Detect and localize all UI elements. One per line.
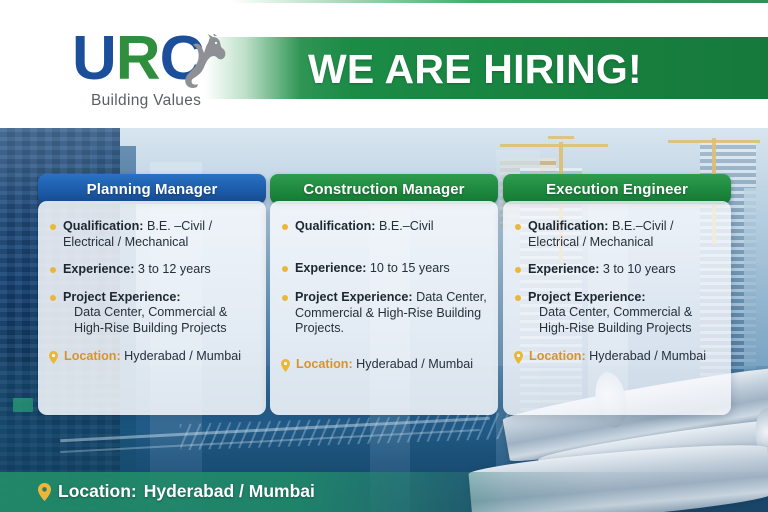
location-value: Hyderabad / Mumbai (586, 349, 706, 363)
requirement-qualification: Qualification: B.E.–Civil / Electrical /… (514, 219, 720, 250)
requirement-qualification: Qualification: B.E.–Civil (281, 219, 487, 235)
logo-tagline: Building Values (91, 92, 201, 110)
requirement-label: Qualification: (528, 219, 608, 233)
footer-location-value: Hyderabad / Mumbai (144, 481, 315, 502)
horse-icon (180, 34, 228, 90)
requirement-label: Experience: (63, 262, 134, 276)
location-value: Hyderabad / Mumbai (121, 349, 241, 363)
header-hairline (0, 0, 768, 3)
job-card-body: Qualification: B.E.–Civil Experience: 10… (270, 201, 498, 415)
requirement-experience: Experience: 3 to 10 years (514, 262, 720, 278)
job-card-body: Qualification: B.E. –Civil / Electrical … (38, 201, 266, 415)
requirement-project-experience: Project Experience: Data Center, Commerc… (49, 290, 255, 337)
job-location: Location: Hyderabad / Mumbai (514, 349, 720, 365)
requirement-label: Project Experience: (528, 290, 646, 304)
hiring-poster: WE ARE HIRING! URC Building Values (0, 0, 768, 512)
job-card-planning-manager[interactable]: Planning Manager Qualification: B.E. –Ci… (38, 174, 266, 415)
job-requirements-list: Qualification: B.E.–Civil / Electrical /… (514, 219, 720, 364)
job-card-header: Construction Manager (270, 174, 498, 204)
location-pin-icon (49, 351, 58, 364)
location-label: Location: (64, 349, 121, 363)
requirement-experience: Experience: 3 to 12 years (49, 262, 255, 278)
requirement-value: B.E.–Civil (375, 219, 433, 233)
job-location: Location: Hyderabad / Mumbai (49, 349, 255, 365)
location-label: Location: (296, 357, 353, 371)
requirement-value: 3 to 10 years (599, 262, 675, 276)
requirement-experience: Experience: 10 to 15 years (281, 261, 487, 277)
location-pin-icon (514, 351, 523, 364)
hiring-banner-text: WE ARE HIRING! (308, 42, 728, 96)
requirement-label: Project Experience: (295, 290, 413, 304)
job-card-body: Qualification: B.E.–Civil / Electrical /… (503, 201, 731, 415)
location-pin-icon (38, 483, 51, 501)
job-card-construction-manager[interactable]: Construction Manager Qualification: B.E.… (270, 174, 498, 415)
requirement-extra: Electrical / Mechanical (528, 235, 653, 249)
requirement-extra: Data Center, Commercial & High-Rise Buil… (63, 305, 255, 336)
requirement-value: B.E.–Civil / (608, 219, 673, 233)
requirement-value: B.E. –Civil (143, 219, 205, 233)
job-card-execution-engineer[interactable]: Execution Engineer Qualification: B.E.–C… (503, 174, 731, 415)
location-pin-icon (281, 359, 290, 372)
requirement-extra: Data Center, Commercial & High-Rise Buil… (528, 305, 720, 336)
requirement-label: Qualification: (63, 219, 143, 233)
job-location: Location: Hyderabad / Mumbai (281, 357, 487, 373)
location-value: Hyderabad / Mumbai (353, 357, 473, 371)
job-card-header: Execution Engineer (503, 174, 731, 204)
logo-letter-r: R (116, 24, 160, 93)
requirement-value: 10 to 15 years (366, 261, 449, 275)
job-cards-container: Planning Manager Qualification: B.E. –Ci… (0, 128, 768, 512)
footer-location-bar: Location: Hyderabad / Mumbai (0, 472, 768, 512)
requirement-label: Qualification: (295, 219, 375, 233)
footer-location-label: Location: (58, 481, 137, 502)
requirement-qualification: Qualification: B.E. –Civil / Electrical … (49, 219, 255, 250)
location-label: Location: (529, 349, 586, 363)
job-card-header: Planning Manager (38, 174, 266, 204)
requirement-label: Experience: (295, 261, 366, 275)
poster-header: WE ARE HIRING! URC Building Values (0, 0, 768, 128)
requirement-project-experience: Project Experience: Data Center, Commerc… (281, 290, 487, 337)
job-requirements-list: Qualification: B.E.–Civil Experience: 10… (281, 219, 487, 373)
job-requirements-list: Qualification: B.E. –Civil / Electrical … (49, 219, 255, 364)
requirement-value: 3 to 12 years (134, 262, 210, 276)
requirement-project-experience: Project Experience: Data Center, Commerc… (514, 290, 720, 337)
logo-letter-u: U (72, 24, 116, 93)
requirement-label: Project Experience: (63, 290, 181, 304)
footer-location-group: Location: Hyderabad / Mumbai (38, 481, 315, 502)
requirement-label: Experience: (528, 262, 599, 276)
urc-logo: URC Building Values (72, 28, 222, 114)
